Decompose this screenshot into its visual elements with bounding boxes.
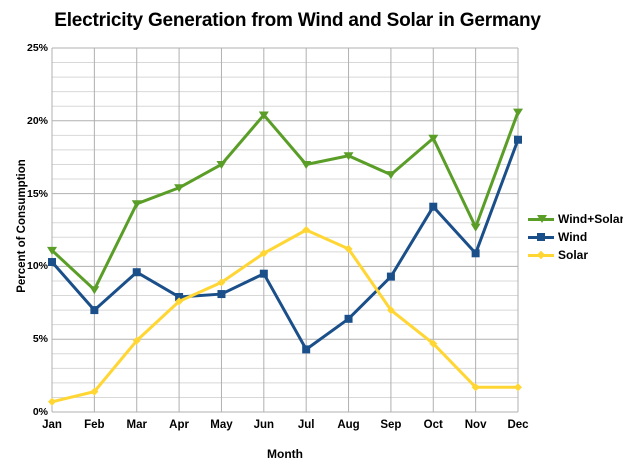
data-point-marker bbox=[386, 171, 396, 179]
legend-item[interactable]: Wind bbox=[528, 228, 623, 246]
data-point-marker bbox=[48, 398, 56, 406]
legend-label: Wind+Solar bbox=[558, 212, 623, 226]
data-point-marker bbox=[217, 290, 225, 298]
chart-container: Electricity Generation from Wind and Sol… bbox=[0, 0, 623, 467]
data-point-marker bbox=[260, 270, 268, 278]
chart-legend: Wind+SolarWindSolar bbox=[528, 210, 623, 264]
legend-label: Wind bbox=[558, 230, 587, 244]
series-solar bbox=[48, 226, 522, 406]
data-point-marker bbox=[471, 224, 481, 232]
legend-swatch bbox=[528, 248, 554, 262]
data-point-marker bbox=[513, 109, 523, 117]
legend-marker-triangle bbox=[537, 215, 547, 223]
data-point-marker bbox=[387, 273, 395, 281]
data-point-marker bbox=[345, 315, 353, 323]
data-point-marker bbox=[90, 306, 98, 314]
data-point-marker bbox=[514, 383, 522, 391]
data-point-marker bbox=[132, 200, 142, 208]
legend-marker-square bbox=[537, 233, 545, 241]
data-point-marker bbox=[133, 268, 141, 276]
data-point-marker bbox=[472, 249, 480, 257]
data-point-marker bbox=[89, 286, 99, 294]
data-point-marker bbox=[429, 203, 437, 211]
legend-item[interactable]: Solar bbox=[528, 246, 623, 264]
series-line bbox=[52, 230, 518, 402]
data-point-marker bbox=[48, 258, 56, 266]
series-line bbox=[52, 112, 518, 290]
legend-swatch bbox=[528, 212, 554, 226]
legend-swatch bbox=[528, 230, 554, 244]
data-point-marker bbox=[514, 136, 522, 144]
legend-marker-diamond bbox=[537, 251, 545, 259]
legend-label: Solar bbox=[558, 248, 588, 262]
legend-item[interactable]: Wind+Solar bbox=[528, 210, 623, 228]
data-point-marker bbox=[302, 345, 310, 353]
series-wind bbox=[48, 136, 522, 354]
